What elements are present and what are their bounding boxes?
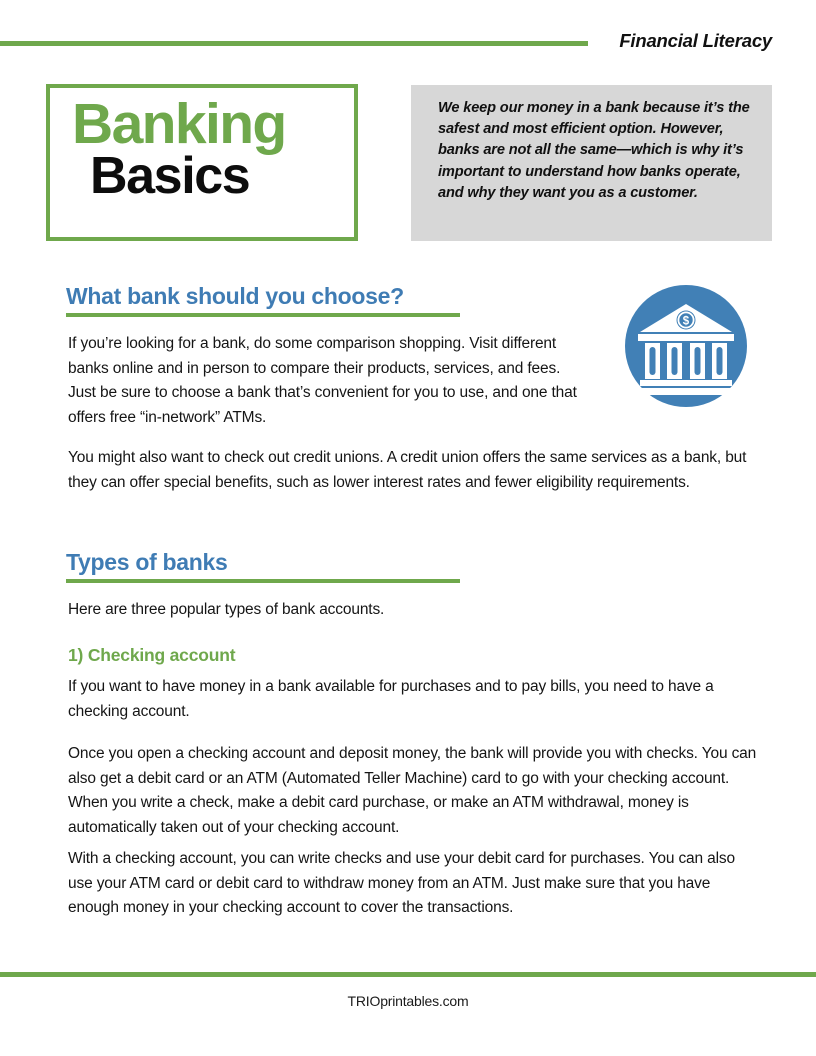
paragraph-checking-usage: With a checking account, you can write c… xyxy=(68,847,762,921)
title-box: Banking Basics xyxy=(46,84,358,241)
paragraph-checking-purpose: If you want to have money in a bank avai… xyxy=(68,675,760,724)
bank-building-icon: $ xyxy=(625,285,747,407)
header-rule xyxy=(0,41,588,46)
page-header: Financial Literacy xyxy=(0,30,816,64)
paragraph-comparison-shopping: If you’re looking for a bank, do some co… xyxy=(68,332,586,430)
paragraph-checking-deposit: Once you open a checking account and dep… xyxy=(68,742,768,840)
title-line-banking: Banking xyxy=(72,96,286,153)
svg-text:$: $ xyxy=(683,316,690,328)
paragraph-credit-unions: You might also want to check out credit … xyxy=(68,446,750,495)
title-line-basics: Basics xyxy=(90,150,249,202)
section-heading-types-of-banks: Types of banks xyxy=(66,549,228,576)
section-rule-what-bank xyxy=(66,313,460,317)
footer-rule xyxy=(0,972,816,977)
section-rule-types-of-banks xyxy=(66,579,460,583)
footer-site-label: TRIOprintables.com xyxy=(0,993,816,1009)
header-category-label: Financial Literacy xyxy=(619,30,772,52)
paragraph-three-types-lead: Here are three popular types of bank acc… xyxy=(68,598,750,623)
section-heading-what-bank: What bank should you choose? xyxy=(66,283,404,310)
intro-callout-text: We keep our money in a bank because it’s… xyxy=(438,98,750,204)
subheading-checking-account: 1) Checking account xyxy=(68,645,235,666)
intro-callout-box: We keep our money in a bank because it’s… xyxy=(411,85,772,241)
